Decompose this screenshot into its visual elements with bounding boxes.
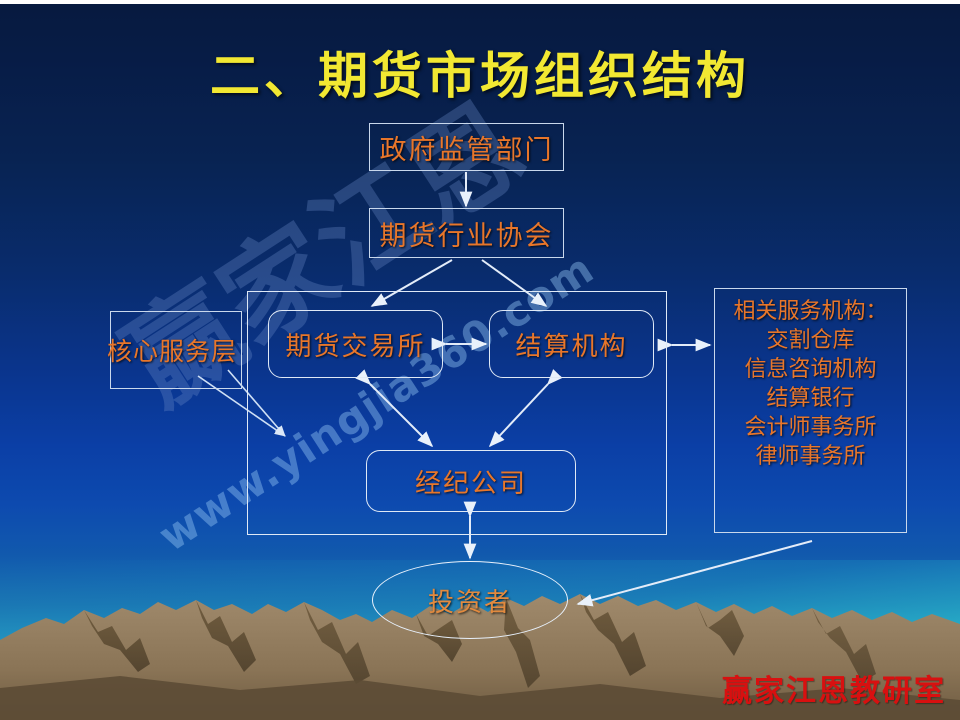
node-futures-association[interactable]: 期货行业协会	[369, 208, 564, 258]
services-item-4: 律师事务所	[755, 442, 865, 471]
slide-canvas: 赢家江恩 www.yingjia360.com 二、期货市场组织结构	[0, 0, 960, 720]
node-label: 期货交易所	[285, 326, 425, 363]
node-label: 投资者	[428, 582, 512, 619]
wire-services-investor	[578, 541, 812, 604]
node-label: 核心服务层	[107, 332, 237, 368]
services-item-1: 信息咨询机构	[744, 355, 876, 384]
node-label: 政府监管部门	[380, 128, 554, 167]
node-brokerage-company[interactable]: 经纪公司	[366, 450, 576, 512]
services-item-0: 交割仓库	[766, 326, 854, 355]
node-label: 经纪公司	[415, 463, 527, 500]
services-item-3: 会计师事务所	[744, 413, 876, 442]
node-futures-exchange[interactable]: 期货交易所	[268, 310, 443, 378]
services-heading: 相关服务机构：	[733, 297, 887, 326]
panel-related-service-institutions[interactable]: 相关服务机构： 交割仓库 信息咨询机构 结算银行 会计师事务所 律师事务所	[714, 288, 907, 533]
node-government-regulator[interactable]: 政府监管部门	[369, 123, 564, 171]
brand-watermark-label: 赢家江恩教研室	[722, 666, 946, 710]
node-label: 期货行业协会	[380, 214, 554, 253]
node-clearing-house[interactable]: 结算机构	[489, 310, 654, 378]
node-core-service-layer-label[interactable]: 核心服务层	[110, 311, 242, 389]
node-investors[interactable]: 投资者	[372, 561, 568, 639]
node-label: 结算机构	[515, 326, 627, 363]
services-item-2: 结算银行	[766, 384, 854, 413]
